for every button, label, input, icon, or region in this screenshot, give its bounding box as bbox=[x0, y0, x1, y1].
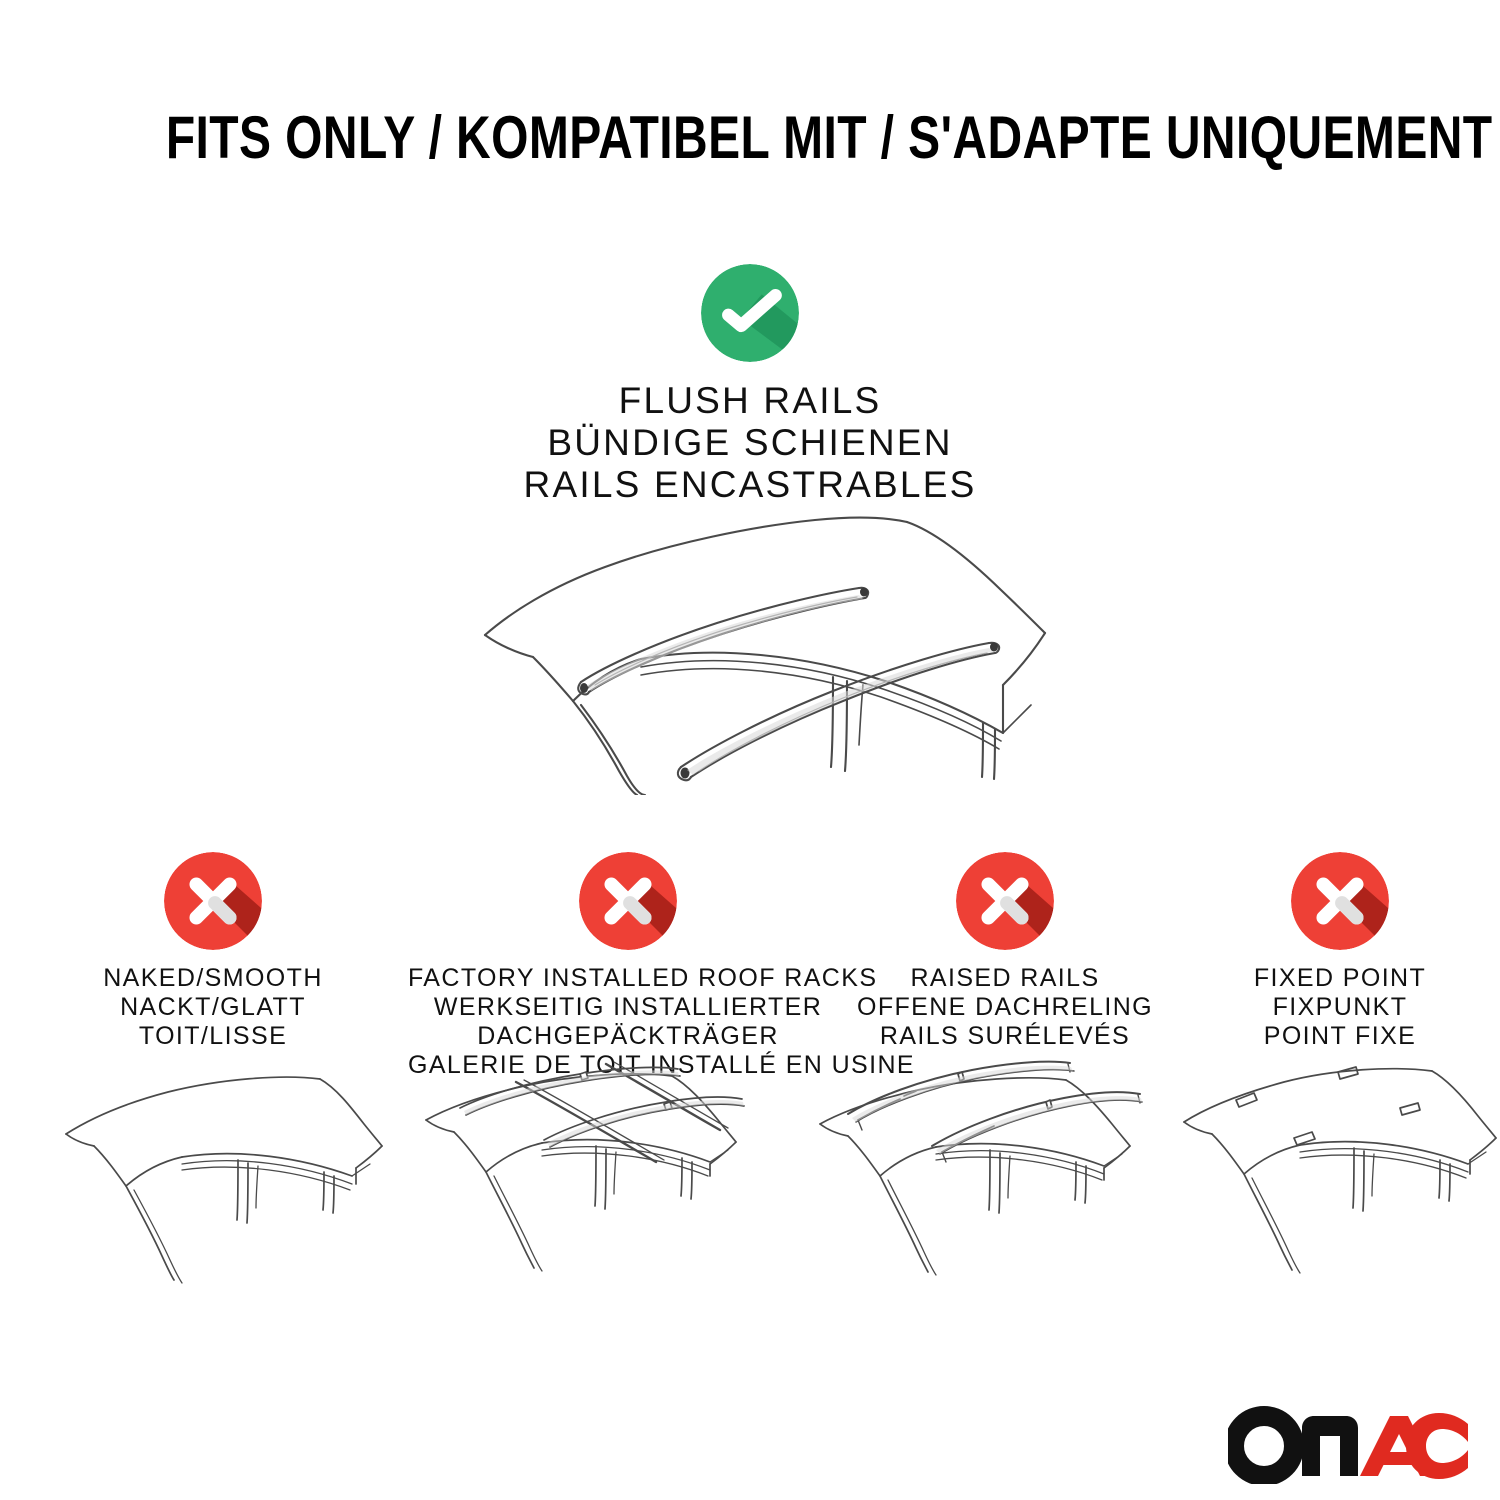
car-roof-with-raised-rails-illustration bbox=[812, 1058, 1152, 1293]
reject-column-fixed-point: FIXED POINT FIXPUNKT POINT FIXE bbox=[1190, 852, 1490, 1051]
reject-label-group: RAISED RAILS OFFENE DACHRELING RAILS SUR… bbox=[845, 964, 1165, 1051]
reject-label-fr: TOIT/LISSE bbox=[63, 1022, 363, 1051]
approved-label-group: FLUSH RAILS BÜNDIGE SCHIENEN RAILS ENCAS… bbox=[0, 380, 1500, 506]
red-x-circle-icon bbox=[1291, 852, 1389, 950]
reject-label-de: NACKT/GLATT bbox=[63, 993, 363, 1022]
reject-label-de-2: DACHGEPÄCKTRÄGER bbox=[408, 1022, 848, 1051]
reject-label-de-1: WERKSEITIG INSTALLIERTER bbox=[408, 993, 848, 1022]
reject-label-group: NAKED/SMOOTH NACKT/GLATT TOIT/LISSE bbox=[63, 964, 363, 1051]
approved-section: FLUSH RAILS BÜNDIGE SCHIENEN RAILS ENCAS… bbox=[0, 264, 1500, 506]
green-check-circle-icon bbox=[701, 264, 799, 362]
reject-label-en: RAISED RAILS bbox=[845, 964, 1165, 993]
reject-badge-wrapper bbox=[408, 852, 848, 950]
car-roof-with-flush-rails-illustration bbox=[455, 495, 1075, 795]
reject-label-de: FIXPUNKT bbox=[1190, 993, 1490, 1022]
fitment-compatibility-infographic: FITS ONLY / KOMPATIBEL MIT / S'ADAPTE UN… bbox=[0, 0, 1500, 1500]
approved-label-de: BÜNDIGE SCHIENEN bbox=[0, 422, 1500, 464]
car-roof-bare-illustration bbox=[58, 1058, 388, 1293]
header: FITS ONLY / KOMPATIBEL MIT / S'ADAPTE UN… bbox=[0, 104, 1500, 172]
car-roof-with-fixed-points-illustration bbox=[1178, 1058, 1498, 1293]
reject-column-naked-smooth: NAKED/SMOOTH NACKT/GLATT TOIT/LISSE bbox=[63, 852, 363, 1051]
reject-badge-wrapper bbox=[1190, 852, 1490, 950]
reject-column-factory-roof-racks: FACTORY INSTALLED ROOF RACKS WERKSEITIG … bbox=[408, 852, 848, 1080]
page-title: FITS ONLY / KOMPATIBEL MIT / S'ADAPTE UN… bbox=[166, 104, 1493, 172]
reject-column-raised-rails: RAISED RAILS OFFENE DACHRELING RAILS SUR… bbox=[845, 852, 1165, 1051]
omac-logo bbox=[1228, 1398, 1468, 1484]
reject-label-en: FIXED POINT bbox=[1190, 964, 1490, 993]
reject-label-fr: POINT FIXE bbox=[1190, 1022, 1490, 1051]
approved-badge-wrapper bbox=[0, 264, 1500, 362]
reject-label-en: NAKED/SMOOTH bbox=[63, 964, 363, 993]
red-x-circle-icon bbox=[579, 852, 677, 950]
reject-label-en: FACTORY INSTALLED ROOF RACKS bbox=[408, 964, 848, 993]
reject-label-de: OFFENE DACHRELING bbox=[845, 993, 1165, 1022]
reject-badge-wrapper bbox=[845, 852, 1165, 950]
approved-label-en: FLUSH RAILS bbox=[0, 380, 1500, 422]
red-x-circle-icon bbox=[956, 852, 1054, 950]
reject-label-fr: RAILS SURÉLEVÉS bbox=[845, 1022, 1165, 1051]
car-roof-with-crossbars-illustration bbox=[420, 1058, 760, 1293]
reject-label-group: FIXED POINT FIXPUNKT POINT FIXE bbox=[1190, 964, 1490, 1051]
reject-badge-wrapper bbox=[63, 852, 363, 950]
red-x-circle-icon bbox=[164, 852, 262, 950]
